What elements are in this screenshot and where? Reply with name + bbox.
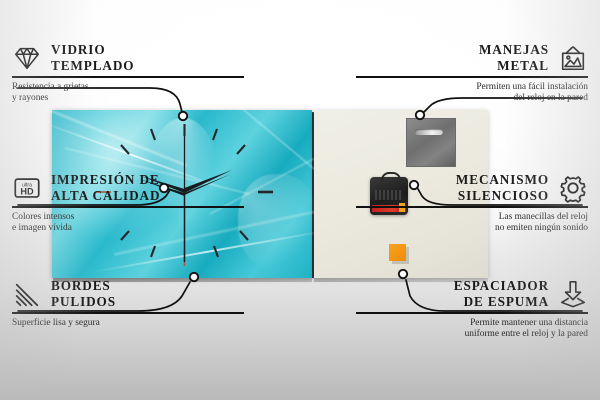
feature-mecanismo-silencioso: MECANISMO SILENCIOSO Las manecillas del … bbox=[356, 172, 588, 235]
feather-plume bbox=[238, 174, 318, 270]
infographic-canvas: VIDRIO TEMPLADO Resistencia a grietas y … bbox=[0, 0, 600, 400]
feature-title: VIDRIO TEMPLADO bbox=[51, 42, 134, 73]
feature-header: MANEJAS METAL bbox=[356, 42, 588, 73]
feature-header: ESPACIADOR DE ESPUMA bbox=[356, 278, 588, 309]
feature-bordes-pulidos: BORDES PULIDOS Superficie lisa y segura bbox=[12, 278, 244, 329]
ultra-hd-icon: ultra HD bbox=[12, 173, 42, 203]
feature-divider bbox=[356, 312, 588, 314]
feature-espaciador-espuma: ESPACIADOR DE ESPUMA Permite mantener un… bbox=[356, 278, 588, 341]
feature-description: Las manecillas del reloj no emiten ningú… bbox=[356, 212, 588, 235]
feature-vidrio-templado: VIDRIO TEMPLADO Resistencia a grietas y … bbox=[12, 42, 244, 105]
feature-title: MANEJAS METAL bbox=[479, 42, 549, 73]
feature-header: MECANISMO SILENCIOSO bbox=[356, 172, 588, 203]
wall-frame-icon bbox=[558, 43, 588, 73]
hanger-slot bbox=[415, 129, 443, 135]
feature-divider bbox=[356, 206, 588, 208]
feature-description: Permiten una fácil instalación del reloj… bbox=[356, 82, 588, 105]
feature-title: MECANISMO SILENCIOSO bbox=[456, 172, 549, 203]
feature-description: Resistencia a grietas y rayones bbox=[12, 82, 244, 105]
diamond-icon bbox=[12, 43, 42, 73]
feature-divider bbox=[356, 76, 588, 78]
gear-icon bbox=[558, 173, 588, 203]
feature-description: Colores intensos e imagen vívida bbox=[12, 212, 244, 235]
polished-edges-icon bbox=[12, 279, 42, 309]
feature-title: ESPACIADOR DE ESPUMA bbox=[454, 278, 549, 309]
feature-title: IMPRESIÓN DE ALTA CALIDAD bbox=[51, 172, 160, 203]
feature-description: Permite mantener una distancia uniforme … bbox=[356, 318, 588, 341]
feature-header: ultra HD IMPRESIÓN DE ALTA CALIDAD bbox=[12, 172, 244, 203]
svg-text:HD: HD bbox=[20, 186, 34, 196]
foam-spacer-icon bbox=[558, 279, 588, 309]
feature-impresion-alta-calidad: ultra HD IMPRESIÓN DE ALTA CALIDAD Color… bbox=[12, 172, 244, 235]
feature-divider bbox=[12, 206, 244, 208]
feature-title: BORDES PULIDOS bbox=[51, 278, 116, 309]
feature-description: Superficie lisa y segura bbox=[12, 318, 244, 330]
feature-header: VIDRIO TEMPLADO bbox=[12, 42, 244, 73]
feature-divider bbox=[12, 76, 244, 78]
feature-divider bbox=[12, 312, 244, 314]
foam-spacer bbox=[389, 244, 406, 261]
metal-hanger-plate bbox=[406, 118, 456, 167]
feature-manejas-metal: MANEJAS METAL Permiten una fácil instala… bbox=[356, 42, 588, 105]
feature-header: BORDES PULIDOS bbox=[12, 278, 244, 309]
